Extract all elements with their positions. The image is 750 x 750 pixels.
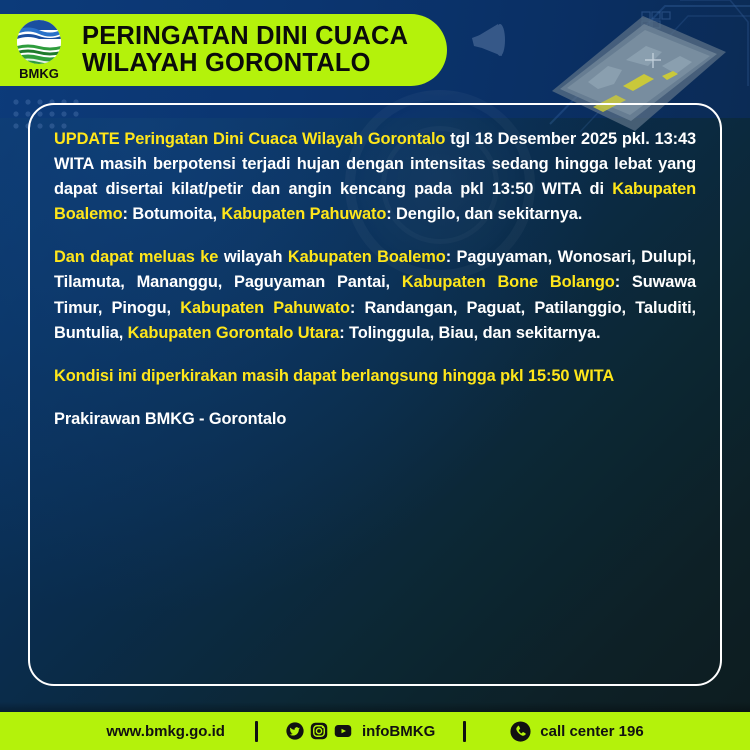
forecaster-signature: Prakirawan BMKG - Gorontalo [54, 407, 696, 432]
megaphone-icon [468, 16, 528, 68]
footer-website[interactable]: www.bmkg.go.id [106, 723, 255, 740]
header-title-line1: PERINGATAN DINI CUACA [82, 23, 408, 50]
bmkg-logo: BMKG [10, 17, 68, 83]
footer-shadow [0, 702, 750, 712]
warning-paragraph-2: Dan dapat meluas ke wilayah Kabupaten Bo… [54, 245, 696, 345]
footer-social-group: infoBMKG [258, 722, 463, 740]
header-title: PERINGATAN DINI CUACA WILAYAH GORONTALO [82, 23, 408, 76]
phone-icon [510, 721, 531, 742]
warning-duration-note: Kondisi ini diperkirakan masih dapat ber… [54, 364, 696, 389]
footer-social-handle[interactable]: infoBMKG [362, 723, 435, 740]
header-title-pill: BMKG PERINGATAN DINI CUACA WILAYAH GORON… [0, 14, 447, 86]
footer-call-center[interactable]: call center 196 [466, 721, 643, 742]
svg-text:BMKG: BMKG [19, 66, 59, 81]
header-title-line2: WILAYAH GORONTALO [82, 50, 408, 77]
instagram-icon[interactable] [310, 722, 328, 740]
warning-content-card: UPDATE Peringatan Dini Cuaca Wilayah Gor… [28, 103, 722, 686]
youtube-icon[interactable] [334, 722, 352, 740]
poster-root: BMKG PERINGATAN DINI CUACA WILAYAH GORON… [0, 0, 750, 750]
footer-bar: www.bmkg.go.id [0, 712, 750, 750]
twitter-icon[interactable] [286, 722, 304, 740]
warning-paragraph-1: UPDATE Peringatan Dini Cuaca Wilayah Gor… [54, 127, 696, 227]
footer-call-label: call center 196 [540, 723, 643, 740]
